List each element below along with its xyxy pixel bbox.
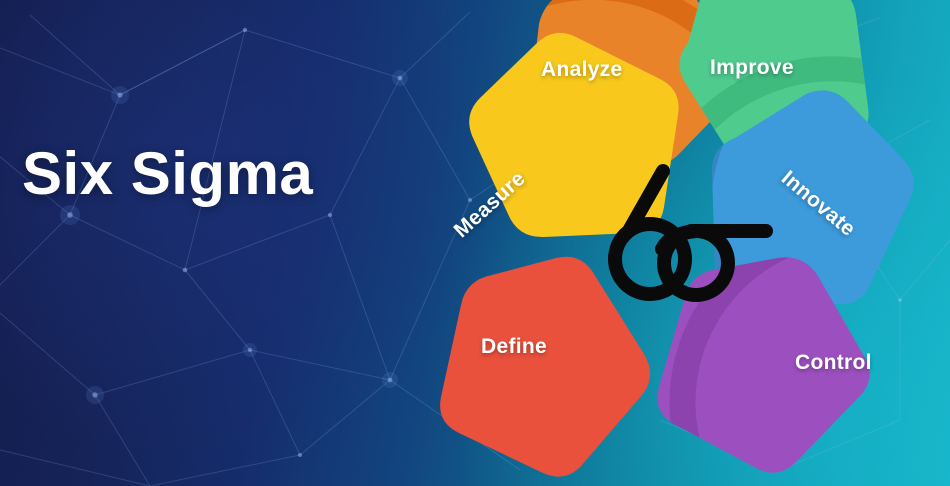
page-title: Six Sigma bbox=[22, 139, 313, 208]
petal-define[interactable] bbox=[440, 234, 691, 477]
six-sigma-banner: Six Sigma bbox=[0, 0, 950, 486]
six-sigma-wheel bbox=[408, 0, 950, 486]
